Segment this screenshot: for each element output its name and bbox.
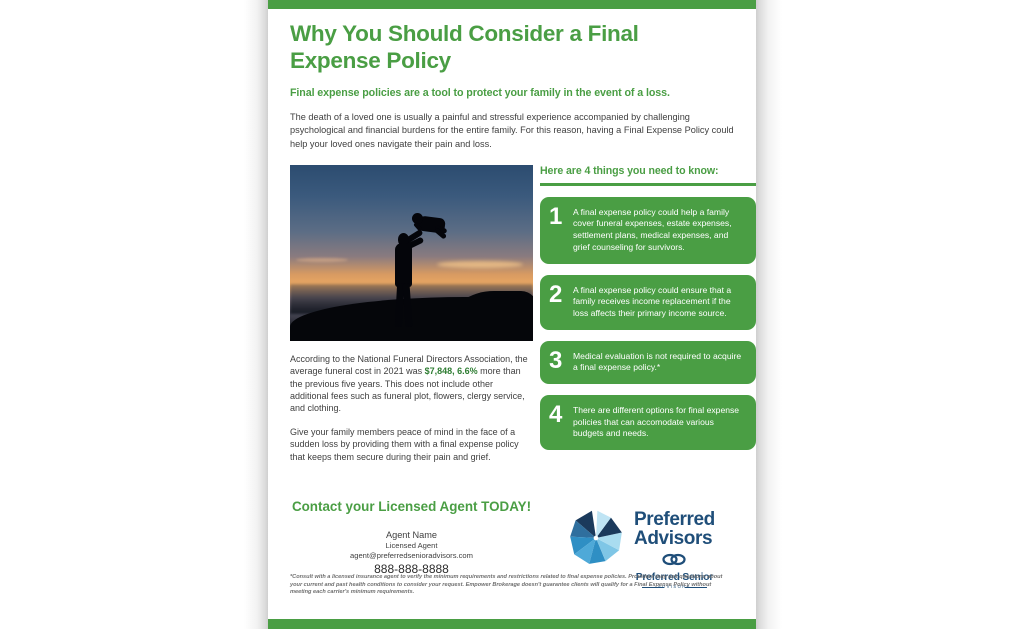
agent-name: Agent Name — [290, 530, 533, 540]
fact-card-3-number: 3 — [549, 350, 573, 372]
funeral-cost-paragraph: According to the National Funeral Direct… — [290, 353, 533, 414]
fact-card-3-text: Medical evaluation is not required to ac… — [573, 350, 746, 374]
agent-email[interactable]: agent@preferredsenioradvisors.com — [290, 551, 533, 560]
page-gutter-right — [756, 0, 782, 629]
page-content: Why You Should Consider a Final Expense … — [268, 9, 756, 619]
fact-card-2: 2 A final expense policy could ensure th… — [540, 275, 756, 330]
left-column: According to the National Funeral Direct… — [290, 165, 533, 463]
silhouette-figure — [386, 207, 452, 327]
fact-card-4-text: There are different options for final ex… — [573, 404, 746, 440]
fact-card-1-text: A final expense policy could help a fami… — [573, 206, 746, 254]
logo-main-line-1: Preferred — [634, 510, 715, 529]
page-title: Why You Should Consider a Final Expense … — [290, 20, 690, 74]
contact-cta-heading: Contact your Licensed Agent TODAY! — [290, 499, 533, 515]
page-subtitle: Final expense policies are a tool to pro… — [290, 87, 734, 99]
two-column-region: According to the National Funeral Direct… — [290, 165, 734, 485]
fact-card-1-number: 1 — [549, 206, 573, 228]
logo-main-line-2: Advisors — [634, 529, 715, 548]
adult-torso-shape — [395, 243, 412, 287]
bottom-accent-bar — [268, 619, 756, 629]
footer-disclaimer: *Consult with a licensed insurance agent… — [290, 574, 734, 597]
chain-links-icon — [634, 553, 715, 571]
fact-card-4-number: 4 — [549, 404, 573, 426]
right-column: Here are 4 things you need to know: 1 A … — [540, 165, 756, 450]
page-gutter-left — [244, 0, 268, 629]
hero-photo — [290, 165, 533, 341]
screenshot-viewport: Why You Should Consider a Final Expense … — [0, 0, 1024, 629]
top-accent-bar — [268, 0, 756, 9]
fact-card-1: 1 A final expense policy could help a fa… — [540, 197, 756, 264]
fact-card-4: 4 There are different options for final … — [540, 395, 756, 450]
things-to-know-heading: Here are 4 things you need to know: — [540, 165, 756, 177]
fact-card-3: 3 Medical evaluation is not required to … — [540, 341, 756, 384]
agent-role: Licensed Agent — [290, 541, 533, 550]
fact-card-2-text: A final expense policy could ensure that… — [573, 284, 746, 320]
flyer-page: Why You Should Consider a Final Expense … — [268, 0, 756, 629]
fact-card-2-number: 2 — [549, 284, 573, 306]
intro-paragraph: The death of a loved one is usually a pa… — [290, 111, 738, 151]
cloud-streak-left — [296, 258, 348, 262]
funeral-cost-stat: $7,848, 6.6% — [425, 366, 478, 376]
adult-leg-shape-2 — [402, 283, 412, 327]
peace-of-mind-paragraph: Give your family members peace of mind i… — [290, 426, 533, 463]
contact-block: Contact your Licensed Agent TODAY! Agent… — [290, 499, 533, 576]
heading-underline — [540, 183, 756, 186]
pinwheel-icon — [562, 504, 630, 577]
